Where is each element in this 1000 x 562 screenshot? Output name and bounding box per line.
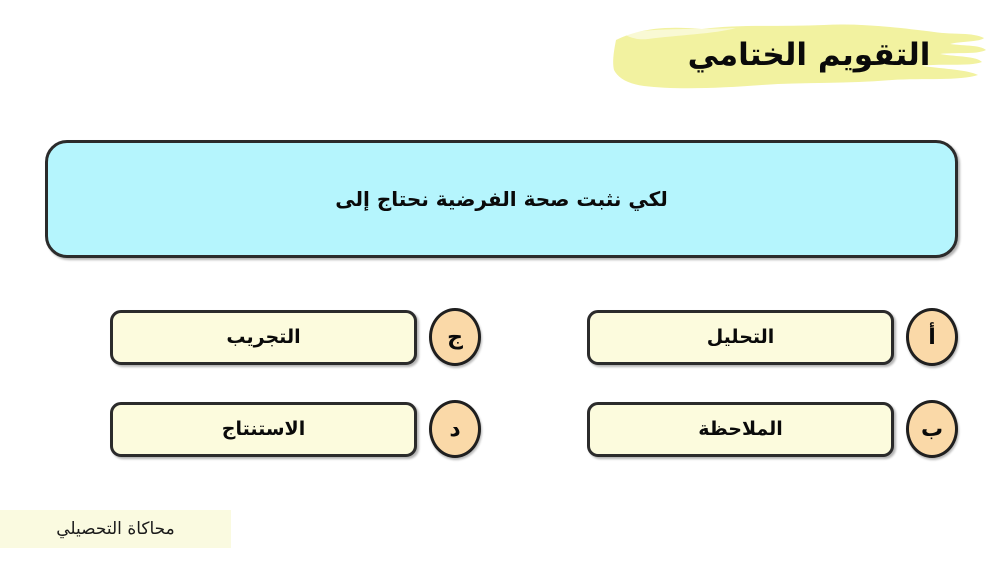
answer-label-c: التجريب <box>226 326 300 348</box>
answer-label-a: التحليل <box>707 326 775 348</box>
page-title: التقويم الختامي <box>610 18 990 98</box>
answer-badge-d: د <box>429 400 481 458</box>
answer-box-b[interactable]: الملاحظة <box>587 402 894 457</box>
question-box: لكي نثبت صحة الفرضية نحتاج إلى <box>45 140 958 258</box>
slide-canvas: التقويم الختامي لكي نثبت صحة الفرضية نحت… <box>0 0 1000 562</box>
answer-options: أ التحليل ب الملاحظة ج التجريب د الاستنت… <box>0 308 1000 460</box>
answer-label-d: الاستنتاج <box>222 418 305 440</box>
answer-badge-c: ج <box>429 308 481 366</box>
answer-box-a[interactable]: التحليل <box>587 310 894 365</box>
answer-option-c[interactable]: ج التجريب <box>110 308 481 366</box>
answer-option-a[interactable]: أ التحليل <box>587 308 958 366</box>
answer-box-c[interactable]: التجريب <box>110 310 417 365</box>
answer-badge-a: أ <box>906 308 958 366</box>
answer-box-d[interactable]: الاستنتاج <box>110 402 417 457</box>
page-title-text: التقويم الختامي <box>610 18 990 98</box>
footer-text: محاكاة التحصيلي <box>56 519 175 539</box>
answer-option-b[interactable]: ب الملاحظة <box>587 400 958 458</box>
question-text: لكي نثبت صحة الفرضية نحتاج إلى <box>335 187 668 211</box>
answer-label-b: الملاحظة <box>698 418 783 440</box>
answer-option-d[interactable]: د الاستنتاج <box>110 400 481 458</box>
footer-band: محاكاة التحصيلي <box>0 510 231 548</box>
answer-badge-b: ب <box>906 400 958 458</box>
